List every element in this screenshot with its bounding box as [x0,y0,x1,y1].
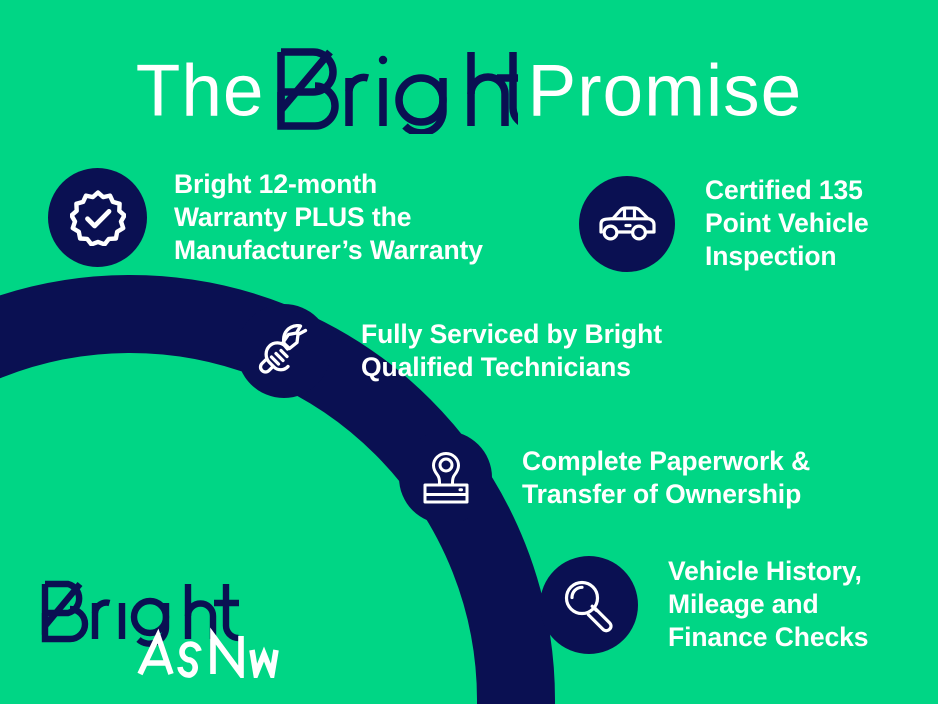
feature-inspection-badge [579,176,675,272]
feature-paperwork-badge [399,431,492,524]
feature-inspection: Certified 135 Point Vehicle Inspection [579,174,869,273]
feature-servicing-badge [237,304,331,398]
brand-logo-primary [45,584,239,644]
page-title: The [0,48,938,134]
hand-wrench-icon [257,324,311,378]
feature-checks-badge [540,556,638,654]
feature-checks-label: Vehicle History, Mileage and Finance Che… [668,555,868,654]
feature-paperwork-label: Complete Paperwork & Transfer of Ownersh… [522,445,810,511]
feature-checks: Vehicle History, Mileage and Finance Che… [540,555,868,654]
magnifying-glass-icon [561,577,617,633]
feature-inspection-label: Certified 135 Point Vehicle Inspection [705,174,869,273]
feature-warranty: Bright 12-month Warranty PLUS the Manufa… [48,168,483,267]
feature-paperwork: Complete Paperwork & Transfer of Ownersh… [399,431,810,524]
brand-logo-secondary [140,636,276,675]
car-icon [597,202,657,246]
brand-logo-lockup [40,578,290,678]
feature-warranty-label: Bright 12-month Warranty PLUS the Manufa… [174,168,483,267]
feature-warranty-badge [48,168,147,267]
feature-servicing: Fully Serviced by Bright Qualified Techn… [237,304,662,398]
verified-badge-icon [70,190,126,246]
bright-promise-poster: The [0,0,938,704]
page-title-suffix: Promise [528,51,803,132]
feature-servicing-label: Fully Serviced by Bright Qualified Techn… [361,318,662,384]
bright-wordmark-title [275,48,518,134]
rubber-stamp-icon [420,451,472,505]
page-title-prefix: The [136,51,265,132]
